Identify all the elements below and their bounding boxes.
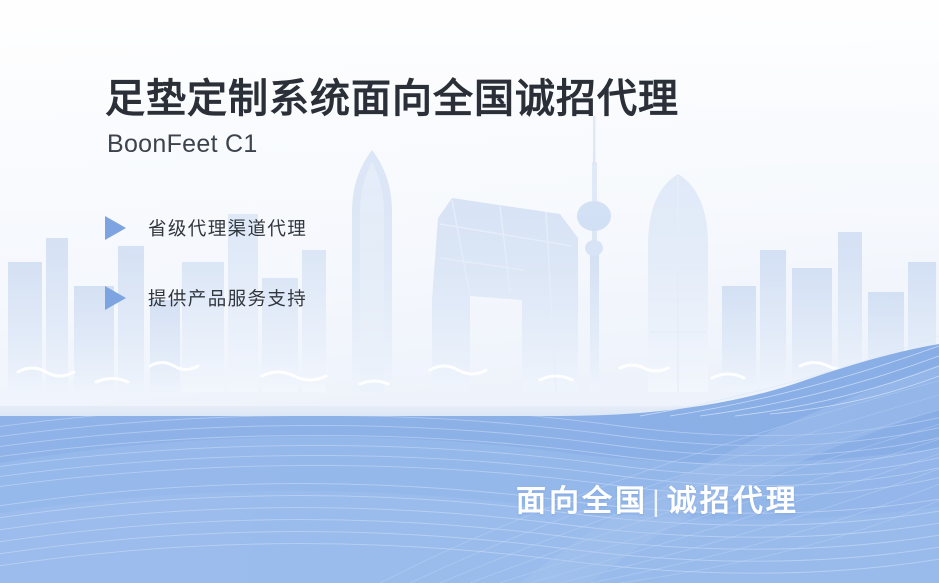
banner-title: 足垫定制系统面向全国诚招代理 [105, 76, 785, 122]
triangle-bullet-icon [105, 286, 126, 310]
tagline-right: 诚招代理 [667, 485, 799, 518]
tagline-left: 面向全国 [516, 485, 648, 518]
banner-content: 足垫定制系统面向全国诚招代理 BoonFeet C1 省级代理渠道代理 提供产品… [105, 76, 785, 353]
banner-subtitle: BoonFeet C1 [107, 130, 785, 159]
list-item: 省级代理渠道代理 [105, 213, 785, 243]
feature-label: 省级代理渠道代理 [148, 215, 307, 241]
promo-banner: 足垫定制系统面向全国诚招代理 BoonFeet C1 省级代理渠道代理 提供产品… [0, 0, 939, 583]
list-item: 提供产品服务支持 [105, 283, 785, 313]
tagline-separator: | [652, 485, 663, 518]
triangle-bullet-icon [105, 216, 126, 240]
divider-strip [0, 406, 939, 416]
feature-list: 省级代理渠道代理 提供产品服务支持 [105, 213, 785, 313]
banner-tagline: 面向全国|诚招代理 [516, 476, 799, 520]
feature-label: 提供产品服务支持 [148, 285, 307, 311]
